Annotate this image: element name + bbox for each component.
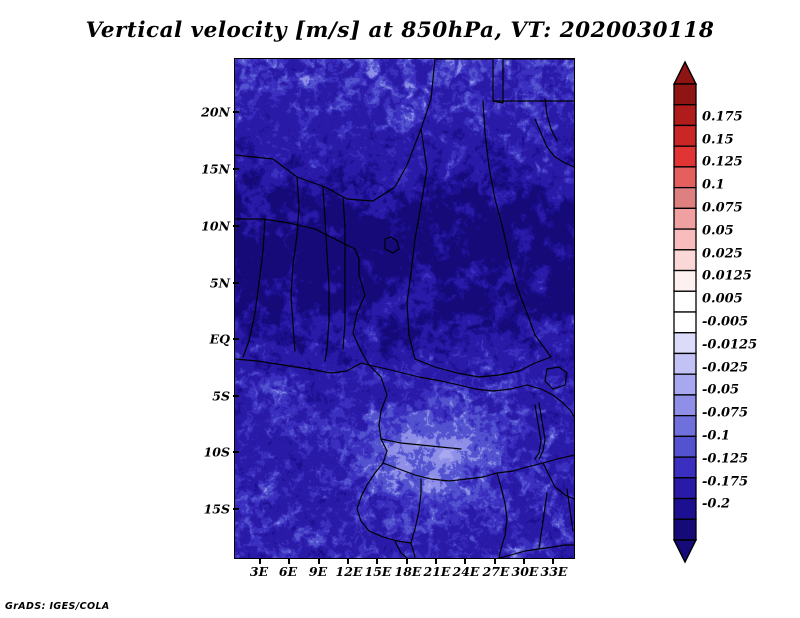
x-axis-tick-15E: 15E xyxy=(365,564,392,579)
y-axis-tick-20N: 20N xyxy=(198,105,230,120)
x-axis-tick-30E: 30E xyxy=(512,564,539,579)
x-axis-tick-24E: 24E xyxy=(453,564,480,579)
x-axis-tick-33E: 33E xyxy=(541,564,568,579)
x-axis-tick-9E: 9E xyxy=(309,564,327,579)
colorbar-tick-label: 0.0125 xyxy=(702,269,752,284)
colorbar: 0.1750.150.1250.10.0750.050.0250.01250.0… xyxy=(674,62,696,562)
y-tick-mark xyxy=(233,111,239,113)
colorbar-tick-label: -0.125 xyxy=(702,451,748,466)
colorbar-tick-label: 0.025 xyxy=(702,246,743,261)
y-tick-mark xyxy=(233,282,239,284)
colorbar-tick-label: -0.05 xyxy=(702,383,739,398)
colorbar-tick-label: 0.075 xyxy=(702,201,743,216)
grads-credit: GrADS: IGES/COLA xyxy=(5,601,110,612)
y-axis-tick-5S: 5S xyxy=(198,389,230,404)
colorbar-tick-label: -0.2 xyxy=(702,497,730,512)
x-axis-tick-27E: 27E xyxy=(483,564,510,579)
x-axis-tick-18E: 18E xyxy=(395,564,422,579)
colorbar-tick-label: -0.1 xyxy=(702,429,730,444)
y-axis-tick-5N: 5N xyxy=(198,276,230,291)
y-axis-tick-10S: 10S xyxy=(198,445,230,460)
colorbar-tick-label: 0.005 xyxy=(702,292,743,307)
y-axis-tick-15S: 15S xyxy=(198,502,230,517)
colorbar-tick-label: -0.075 xyxy=(702,406,748,421)
y-tick-mark xyxy=(233,451,239,453)
y-tick-mark xyxy=(233,395,239,397)
map-plot-area xyxy=(234,58,575,559)
page-title: Vertical velocity [m/s] at 850hPa, VT: 2… xyxy=(0,18,800,43)
y-axis-tick-EQ: EQ xyxy=(198,332,230,347)
x-axis-tick-3E: 3E xyxy=(250,564,268,579)
y-axis-tick-10N: 10N xyxy=(198,219,230,234)
colorbar-tick-label: -0.0125 xyxy=(702,337,757,352)
y-tick-mark xyxy=(233,225,239,227)
colorbar-tick-label: 0.05 xyxy=(702,223,734,238)
y-axis-tick-15N: 15N xyxy=(198,162,230,177)
colorbar-tick-label: -0.025 xyxy=(702,360,748,375)
y-tick-mark xyxy=(233,338,239,340)
colorbar-tick-label: -0.175 xyxy=(702,474,748,489)
colorbar-tick-label: -0.005 xyxy=(702,315,748,330)
colorbar-tick-label: 0.1 xyxy=(702,178,725,193)
colorbar-tick-label: 0.175 xyxy=(702,109,743,124)
y-tick-mark xyxy=(233,508,239,510)
colorbar-tick-label: 0.15 xyxy=(702,132,734,147)
x-axis-tick-6E: 6E xyxy=(279,564,297,579)
colorbar-swatches xyxy=(674,62,696,562)
vertical-velocity-field xyxy=(235,59,574,558)
colorbar-tick-label: 0.125 xyxy=(702,155,743,170)
x-axis-tick-12E: 12E xyxy=(336,564,363,579)
x-axis-tick-21E: 21E xyxy=(424,564,451,579)
y-tick-mark xyxy=(233,168,239,170)
